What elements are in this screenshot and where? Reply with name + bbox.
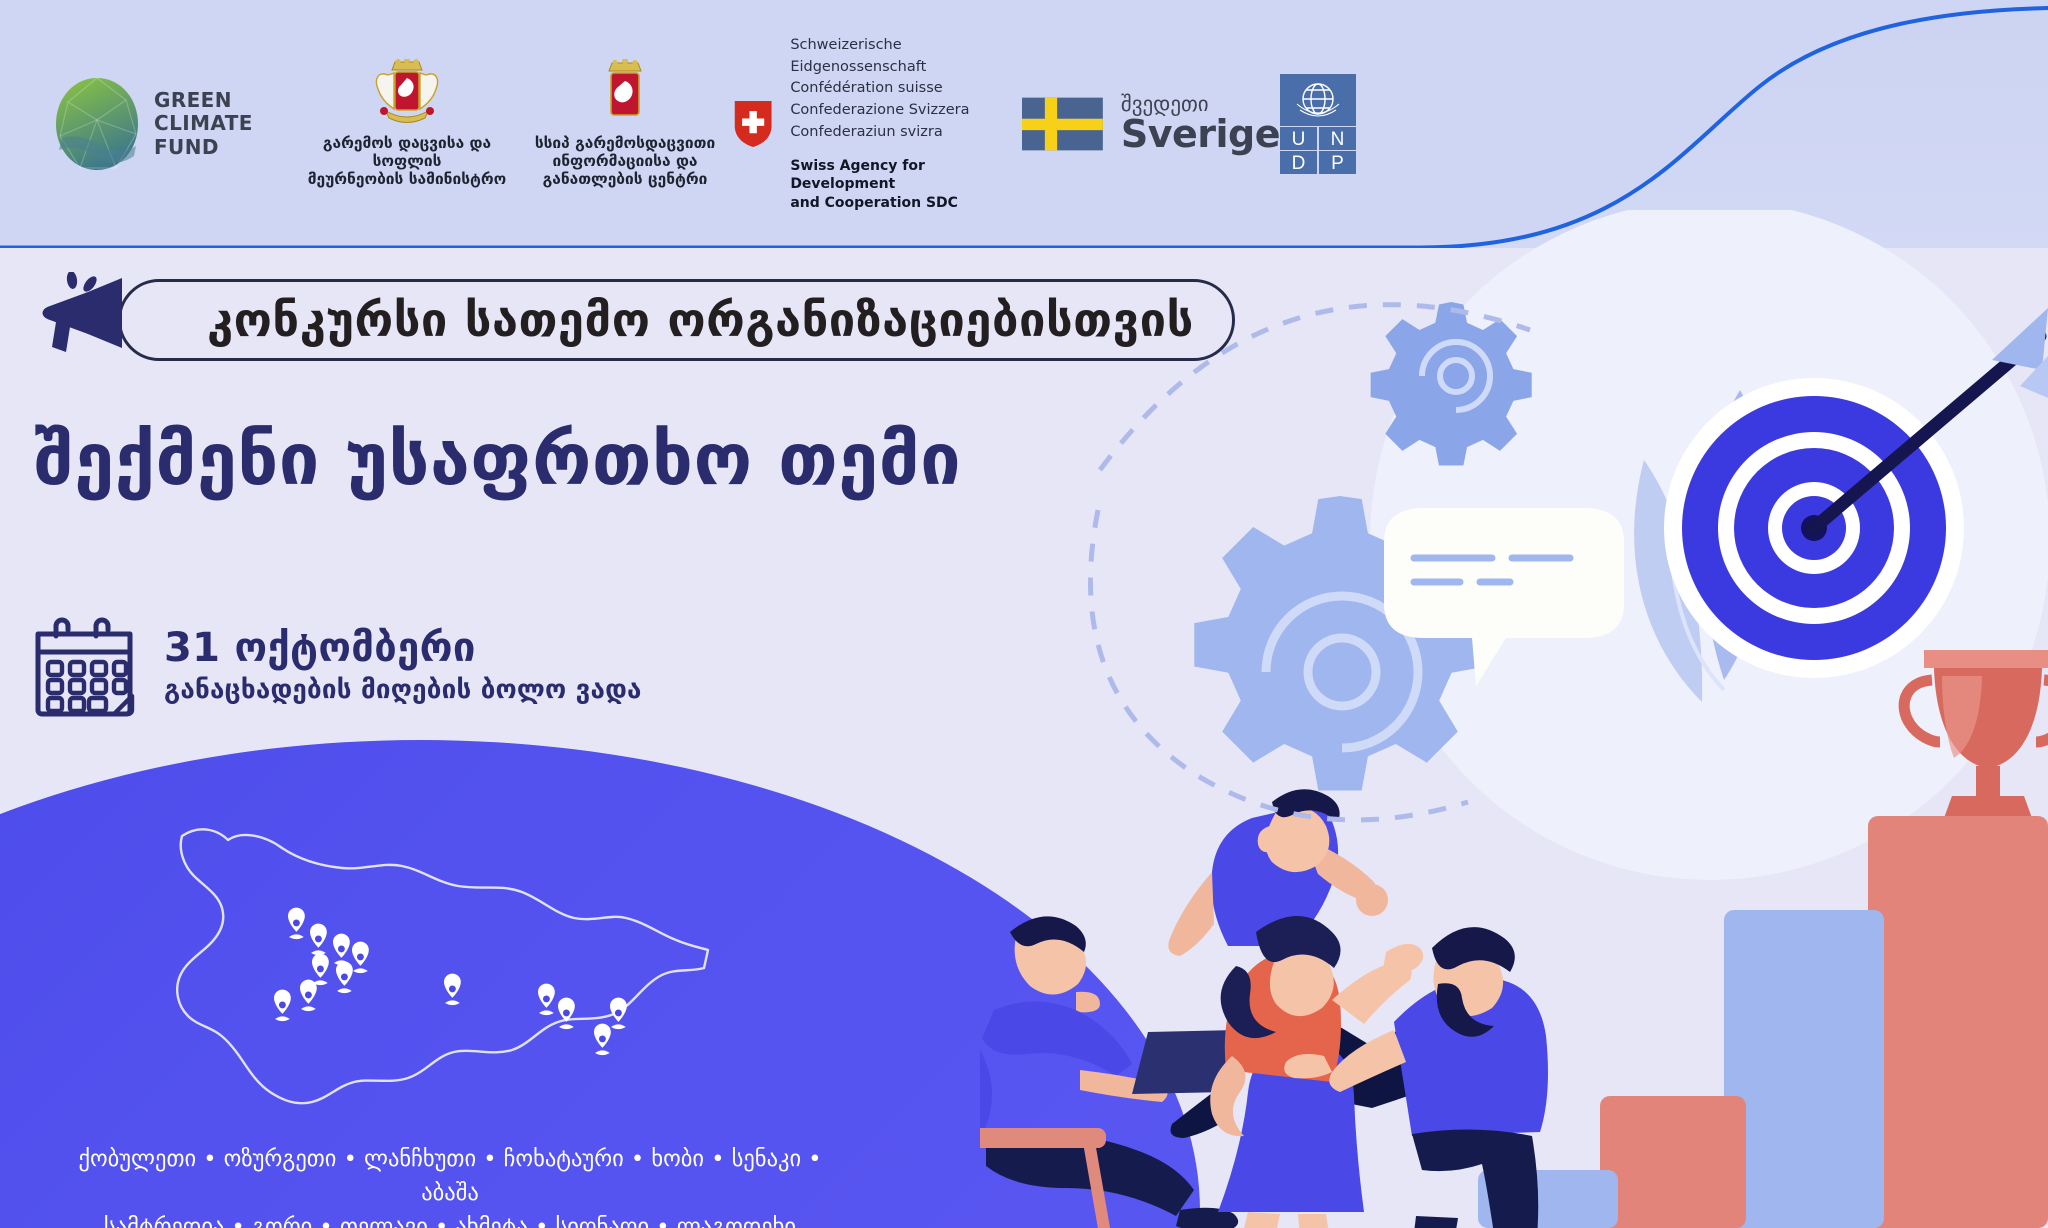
runner-fist	[1356, 884, 1388, 916]
undp-icon: U N D P	[1280, 74, 1356, 174]
swiss-shield-icon	[732, 96, 774, 152]
megaphone-icon	[26, 272, 134, 368]
logo-green-climate-fund: GREEN CLIMATE FUND	[54, 76, 296, 172]
undp-letter-p: P	[1331, 153, 1344, 174]
sia-caption-line1: სსიპ გარემოსდაცვითი	[535, 135, 715, 153]
man-trousers	[1412, 1129, 1538, 1228]
undp-letter-d: D	[1292, 153, 1306, 174]
undp-letter-n: N	[1331, 129, 1345, 150]
deadline-text: 31 ოქტომბერი განაცხადების მიღების ბოლო ვ…	[164, 626, 642, 707]
hero-illustration	[980, 210, 2048, 1228]
seated-man-laptop	[980, 916, 1238, 1228]
logo-swiss-sdc: Schweizerische Eidgenossenschaft Confédé…	[732, 35, 1022, 213]
sdc-line-it: Confederazione Svizzera	[790, 100, 1022, 122]
deadline-subtitle: განაცხადების მიღების ბოლო ვადა	[164, 674, 642, 707]
georgia-map	[170, 810, 710, 1140]
page-title: შექმენი უსაფრთხო თემი	[34, 420, 961, 499]
sdc-agency-line1: Swiss Agency for Development	[790, 157, 1022, 195]
ministry-caption: გარემოს დაცვისა და სოფლის მეურნეობის სამ…	[296, 135, 518, 189]
undp-letter-u: U	[1292, 129, 1306, 150]
woman-hand-up	[1382, 944, 1423, 975]
sdc-line-de: Schweizerische Eidgenossenschaft	[790, 35, 1022, 79]
municipality-line-1: ქობულეთი • ოზურგეთი • ლანჩხუთი • ჩოხატაუ…	[60, 1142, 840, 1210]
deadline-date: 31 ოქტომბერი	[164, 626, 642, 670]
sia-coat-of-arms-icon	[603, 59, 647, 127]
runner-arm-back	[1168, 872, 1214, 956]
municipality-list: ქობულეთი • ოზურგეთი • ლანჩხუთი • ჩოხატაუ…	[60, 1142, 840, 1228]
gcf-line2: CLIMATE	[154, 112, 253, 135]
meeting-scene	[980, 916, 1548, 1228]
podium-bars	[1478, 816, 2048, 1228]
map-pins	[274, 908, 627, 1056]
sweden-text-block: შვედეთი Sverige	[1121, 92, 1280, 156]
sweden-flag-icon	[1022, 94, 1103, 154]
sia-caption-line3: განათლების ცენტრი	[535, 171, 715, 189]
calendar-icon	[30, 614, 138, 718]
sdc-agency-name: Swiss Agency for Development and Coopera…	[790, 157, 1022, 214]
ministry-caption-line2: მეურნეობის სამინისტრო	[296, 171, 518, 189]
logo-sia-environmental-centre: სსიპ გარემოსდაცვითი ინფორმაციისა და განა…	[518, 59, 732, 189]
gcf-line1: GREEN	[154, 89, 253, 112]
sdc-line-fr: Confédération suisse	[790, 78, 1022, 100]
logo-ministry-of-environment: გარემოს დაცვისა და სოფლის მეურნეობის სამ…	[296, 59, 518, 189]
sia-caption: სსიპ გარემოსდაცვითი ინფორმაციისა და განა…	[535, 135, 715, 189]
logo-sweden-sverige: შვედეთი Sverige	[1022, 92, 1280, 156]
sdc-text-block: Schweizerische Eidgenossenschaft Confédé…	[790, 35, 1022, 213]
ministry-caption-line1: გარემოს დაცვისა და სოფლის	[296, 135, 518, 171]
gcf-line3: FUND	[154, 136, 253, 159]
deadline-block: 31 ოქტომბერი განაცხადების მიღების ბოლო ვ…	[30, 614, 642, 718]
sdc-line-rm: Confederaziun svizra	[790, 122, 1022, 144]
logo-undp: U N D P	[1280, 74, 1400, 174]
georgia-coat-of-arms-icon	[368, 59, 446, 127]
sia-caption-line2: ინფორმაციისა და	[535, 153, 715, 171]
sweden-caption-en: Sverige	[1121, 112, 1280, 156]
sdc-languages: Schweizerische Eidgenossenschaft Confédé…	[790, 35, 1022, 144]
green-climate-fund-name: GREEN CLIMATE FUND	[154, 89, 253, 159]
poster-canvas: GREEN CLIMATE FUND გარემ	[0, 0, 2048, 1228]
arrow-fletching-1	[1992, 308, 2048, 370]
municipality-line-2: სამტრედია • გორი • თელავი • ახმეტა • სიღ…	[60, 1210, 840, 1228]
green-climate-fund-icon	[54, 76, 140, 172]
